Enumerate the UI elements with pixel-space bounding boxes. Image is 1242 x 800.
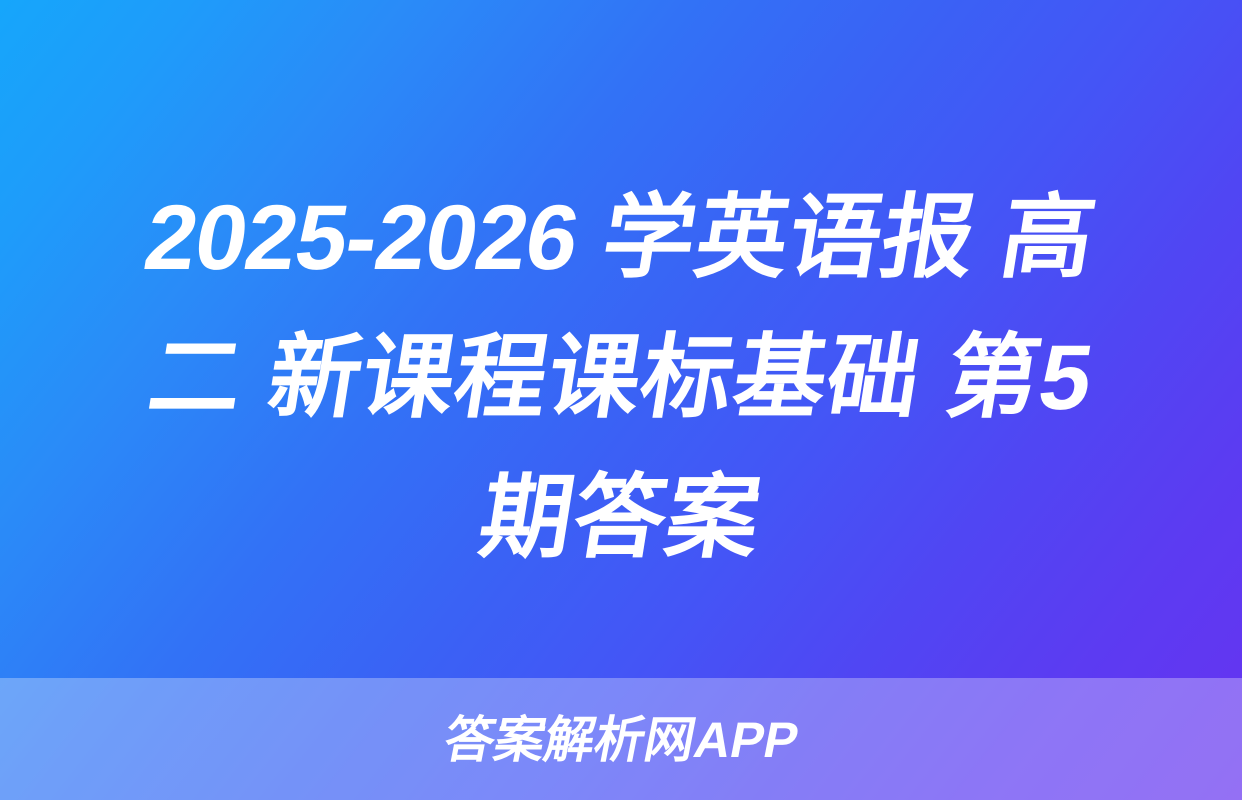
footer-brand-band: 答案解析网APP [0,678,1242,800]
poster-title-line-1: 2025-2026 学英语报 高 [135,168,1106,308]
poster-canvas: 2025-2026 学英语报 高 二 新课程课标基础 第5 期答案 答案解析网A… [0,0,1242,800]
footer-brand-text: 答案解析网APP [440,715,803,765]
poster-title-line-2-cjk: 二 新课程课标基础 第5 [142,327,1100,429]
poster-title-line-3: 期答案 [470,448,771,588]
poster-title-line-2: 二 新课程课标基础 第5 [139,308,1103,448]
poster-title-line-3-cjk: 期答案 [473,467,768,569]
poster-title-line-1-cjk: 学英语报 高 [569,187,1103,289]
poster-title-line-1-latin: 2025-2026 [138,187,585,289]
poster-title-block: 2025-2026 学英语报 高 二 新课程课标基础 第5 期答案 [0,168,1242,608]
